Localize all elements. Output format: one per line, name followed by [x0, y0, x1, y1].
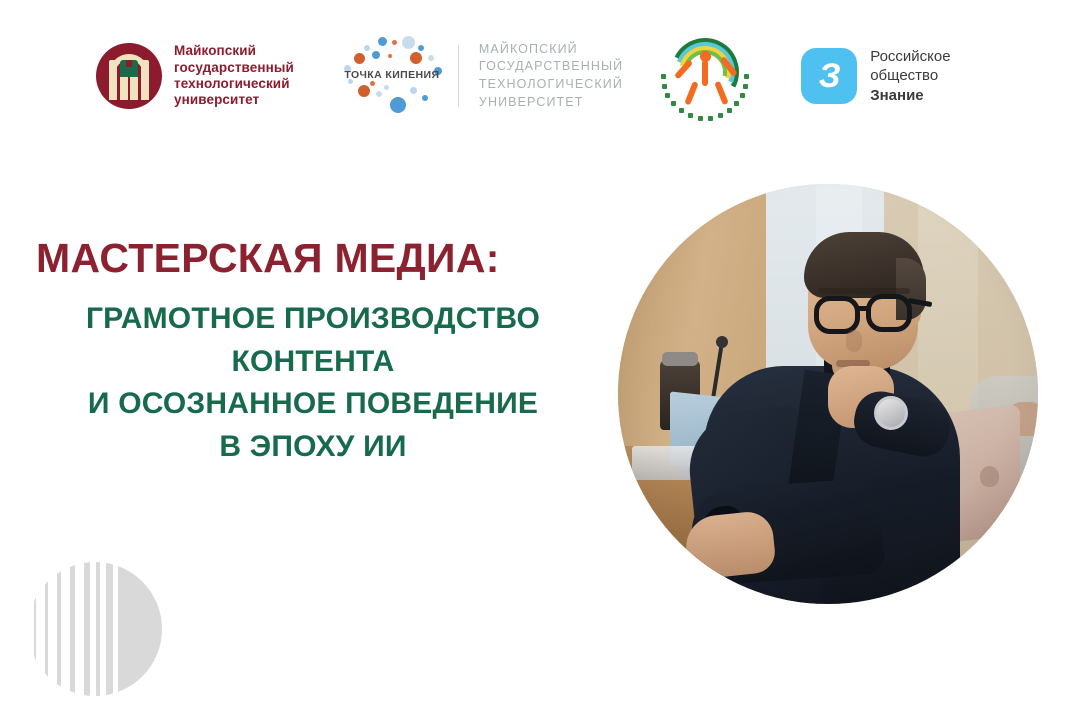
znanie-z-glyph: З — [819, 59, 840, 93]
tk-univ-line-2: ГОСУДАРСТВЕННЫЙ — [479, 58, 623, 76]
person-rainbow-circle-icon — [657, 30, 749, 122]
logo-mgtu-line-4: университет — [174, 92, 294, 108]
tk-univ-line-3: ТЕХНОЛОГИЧЕСКИЙ — [479, 76, 623, 94]
logo-mgtu-line-3: технологический — [174, 76, 294, 92]
logo-divider — [458, 45, 459, 107]
logo-tochka-kipeniya-label: ТОЧКА КИПЕНИЯ — [340, 69, 444, 81]
headline-sub-line-1: ГРАМОТНОЕ ПРОИЗВОДСТВО — [36, 298, 590, 341]
logo-tochka-kipeniya-university-text: МАЙКОПСКИЙ ГОСУДАРСТВЕННЫЙ ТЕХНОЛОГИЧЕСК… — [479, 41, 623, 112]
znanie-line-1: Российское — [870, 47, 950, 66]
tk-univ-line-4: УНИВЕРСИТЕТ — [479, 94, 623, 112]
logo-mgtu-line-2: государственный — [174, 60, 294, 76]
znanie-line-3: Знание — [870, 86, 950, 105]
logo-bar: Майкопский государственный технологическ… — [0, 0, 1075, 152]
boiling-point-dots-icon: ТОЧКА КИПЕНИЯ — [340, 35, 444, 117]
logo-znanie-text: Российское общество Знание — [870, 47, 950, 105]
logo-mgtu-line-1: Майкопский — [174, 43, 294, 59]
znanie-z-icon: З — [801, 48, 857, 104]
logo-mgtu: Майкопский государственный технологическ… — [96, 43, 294, 109]
speaker-portrait — [618, 184, 1038, 604]
poster-canvas: Майкопский государственный технологическ… — [0, 0, 1075, 720]
headline-block: МАСТЕРСКАЯ МЕДИА: ГРАМОТНОЕ ПРОИЗВОДСТВО… — [0, 236, 600, 469]
logo-mgtu-text: Майкопский государственный технологическ… — [174, 43, 294, 109]
tk-univ-line-1: МАЙКОПСКИЙ — [479, 41, 623, 59]
striped-circle-decoration — [28, 562, 162, 696]
headline-subtitle: ГРАМОТНОЕ ПРОИЗВОДСТВО КОНТЕНТА И ОСОЗНА… — [36, 298, 600, 468]
headline-sub-line-3: И ОСОЗНАННОЕ ПОВЕДЕНИЕ — [36, 383, 590, 426]
page-title: МАСТЕРСКАЯ МЕДИА: — [36, 236, 600, 280]
university-crest-icon — [96, 43, 162, 109]
headline-sub-line-4: В ЭПОХУ ИИ — [36, 426, 590, 469]
logo-tochka-kipeniya: ТОЧКА КИПЕНИЯ МАЙКОПСКИЙ ГОСУДАРСТВЕННЫЙ… — [340, 35, 623, 117]
logo-znanie: З Российское общество Знание — [801, 47, 950, 105]
headline-sub-line-2: КОНТЕНТА — [36, 341, 590, 384]
znanie-line-2: общество — [870, 66, 950, 85]
